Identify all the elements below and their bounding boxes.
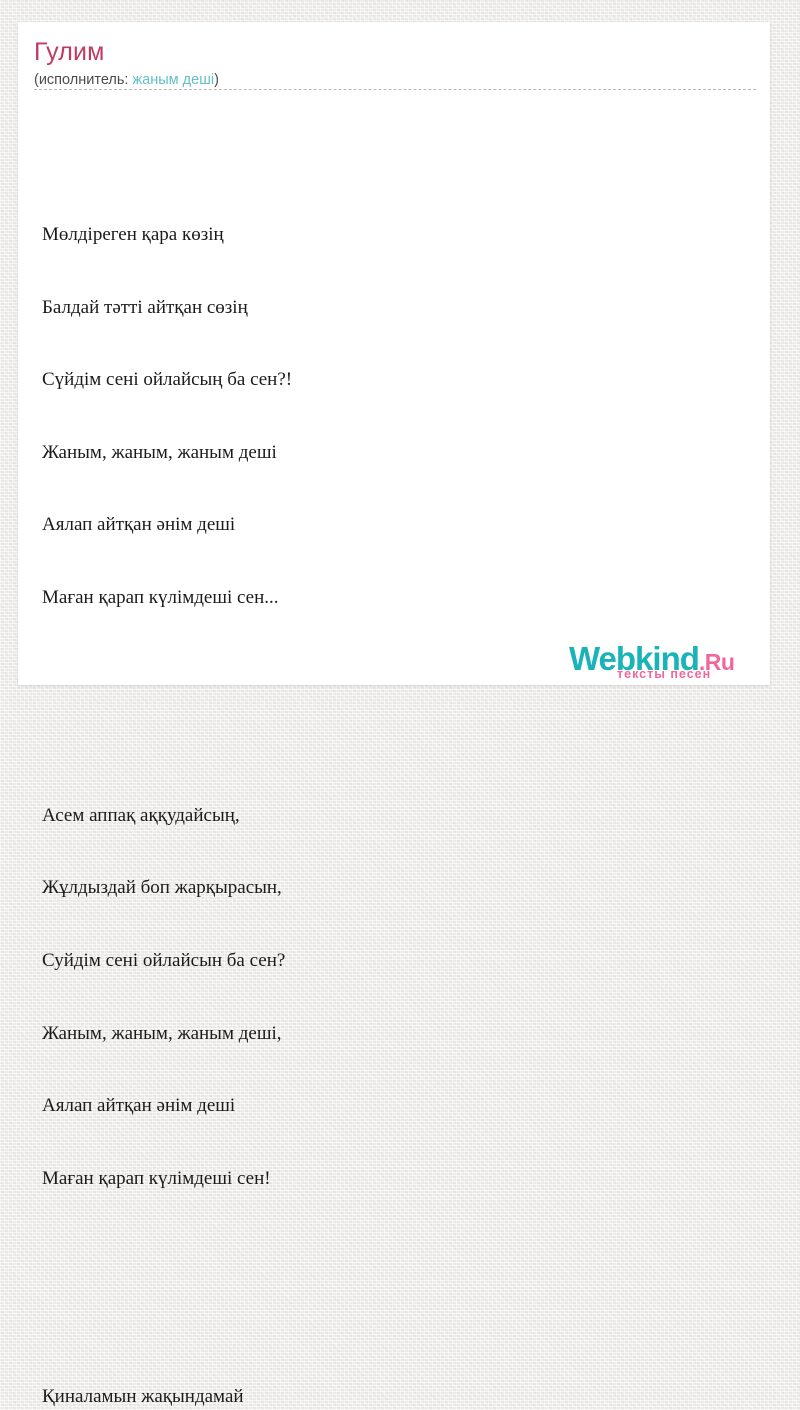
lyrics-verse: Мөлдіреген қара көзің Балдай тәтті айтқа… bbox=[42, 175, 742, 659]
lyric-line: Маған қарап күлімдеші сен! bbox=[42, 1167, 742, 1191]
lyric-line: Сүйдім сені ойлайсың ба сен?! bbox=[42, 368, 742, 392]
lyric-line: Маған қарап күлімдеші сен... bbox=[42, 586, 742, 610]
lyric-line: Қиналамын жақындамай bbox=[42, 1385, 742, 1409]
lyric-line: Жұлдыздай боп жарқырасын, bbox=[42, 876, 742, 900]
artist-suffix-label: ) bbox=[214, 72, 219, 88]
header-divider bbox=[34, 89, 756, 90]
artist-link[interactable]: жаным деші bbox=[132, 72, 214, 88]
page-title: Гулим bbox=[34, 39, 754, 66]
lyric-line: Балдай тәтті айтқан сөзің bbox=[42, 296, 742, 320]
song-header: Гулим (исполнитель: жаным деші) bbox=[34, 39, 754, 89]
logo-tagline: тексты песен bbox=[617, 667, 711, 681]
webkind-logo[interactable]: Webkind.Ru тексты песен bbox=[551, 637, 751, 685]
lyric-line: Аялап айтқан әнім деші bbox=[42, 513, 742, 537]
artist-line: (исполнитель: жаным деші) bbox=[34, 71, 754, 89]
lyrics-verse: Қиналамын жақындамай Қиналамын жақындай … bbox=[42, 1336, 742, 1410]
lyric-line: Жаным, жаным, жаным деші, bbox=[42, 1022, 742, 1046]
lyric-line: Аялап айтқан әнім деші bbox=[42, 1094, 742, 1118]
lyrics-body: Мөлдіреген қара көзің Балдай тәтті айтқа… bbox=[42, 102, 742, 1410]
lyrics-verse: Асем аппақ аққудайсың, Жұлдыздай боп жар… bbox=[42, 755, 742, 1239]
artist-prefix-label: (исполнитель: bbox=[34, 72, 132, 88]
lyric-line: Мөлдіреген қара көзің bbox=[42, 223, 742, 247]
lyric-line: Асем аппақ аққудайсың, bbox=[42, 804, 742, 828]
lyric-line: Жаным, жаным, жаным деші bbox=[42, 441, 742, 465]
song-page-card: Гулим (исполнитель: жаным деші) Мөлдірег… bbox=[18, 22, 770, 685]
lyric-line: Суйдім сені ойлайсын ба сен? bbox=[42, 949, 742, 973]
